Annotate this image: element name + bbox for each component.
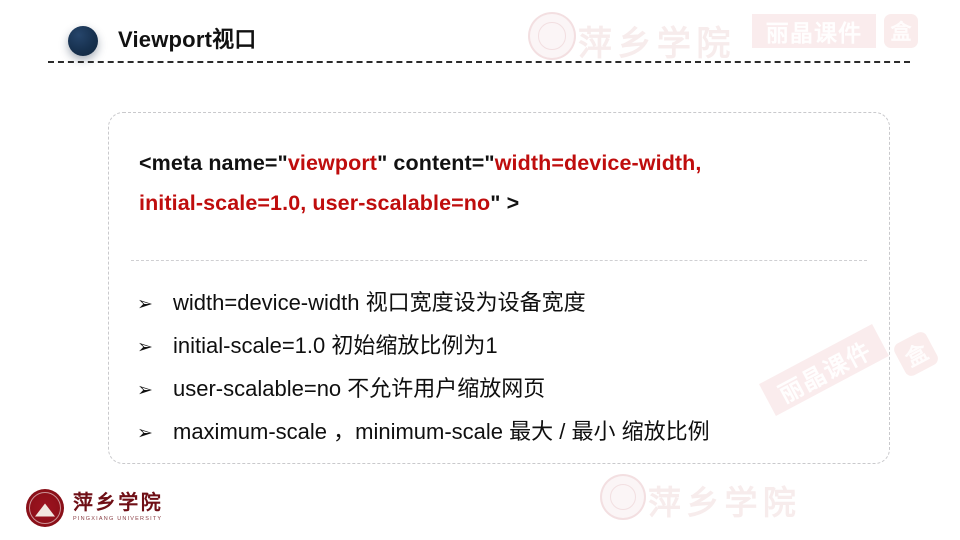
footer-logo-name: 萍乡学院 (73, 492, 163, 514)
arrow-bullet-icon: ➢ (137, 369, 173, 412)
code-token: viewport (288, 151, 377, 175)
code-token: , (695, 151, 701, 175)
list-item: ➢ width=device-width 视口宽度设为设备宽度 (137, 281, 875, 324)
arrow-bullet-icon: ➢ (137, 283, 173, 326)
list-item-label: maximum-scale ，minimum-scale 最大 / 最小 缩放比… (173, 410, 875, 453)
navy-dot-icon (68, 26, 98, 56)
watermark-university-name-bottom: 萍乡学院 (648, 476, 801, 524)
watermark-university-name-top: 萍乡学院 (578, 16, 736, 65)
header-divider (48, 61, 910, 63)
page-title: Viewport视口 (118, 25, 257, 55)
list-item: ➢ maximum-scale ，minimum-scale 最大 / 最小 缩… (137, 410, 875, 453)
watermark-badge-middle: 盒 (892, 330, 941, 379)
watermark-courseware-label-top: 丽晶课件 (752, 14, 876, 48)
list-item: ➢ initial-scale=1.0 初始缩放比例为1 (137, 324, 875, 367)
parameter-list: ➢ width=device-width 视口宽度设为设备宽度 ➢ initia… (137, 281, 875, 453)
footer-logo: 萍乡学院 PINGXIANG UNIVERSITY (26, 489, 163, 527)
list-item-label: width=device-width 视口宽度设为设备宽度 (173, 281, 875, 324)
code-token: initial-scale=1.0, user-scalable=no (139, 191, 490, 215)
pingxiang-university-crest-icon (26, 489, 64, 527)
footer-logo-text: 萍乡学院 PINGXIANG UNIVERSITY (73, 492, 163, 524)
arrow-bullet-icon: ➢ (137, 412, 173, 455)
code-line-1: <meta name="viewport" content="width=dev… (139, 143, 865, 183)
card-divider (131, 260, 867, 261)
watermark-crest-icon-top (528, 12, 576, 60)
content-card: <meta name="viewport" content="width=dev… (108, 112, 890, 464)
watermark-crest-icon-bottom (600, 474, 646, 520)
arrow-bullet-icon: ➢ (137, 326, 173, 369)
slide-canvas: 萍乡学院 丽晶课件 盒 丽晶课件 盒 萍乡学院 Viewport视口 <meta… (0, 0, 960, 540)
list-item-label: initial-scale=1.0 初始缩放比例为1 (173, 324, 875, 367)
code-token: " > (490, 191, 519, 215)
code-token: " content=" (377, 151, 495, 175)
list-item-label: user-scalable=no 不允许用户缩放网页 (173, 367, 875, 410)
code-line-2: initial-scale=1.0, user-scalable=no" > (139, 183, 865, 223)
footer-logo-subtitle: PINGXIANG UNIVERSITY (73, 515, 163, 524)
list-item: ➢ user-scalable=no 不允许用户缩放网页 (137, 367, 875, 410)
code-token: width=device-width (495, 151, 696, 175)
code-snippet: <meta name="viewport" content="width=dev… (139, 143, 865, 223)
code-token: <meta name=" (139, 151, 288, 175)
watermark-badge-top: 盒 (884, 14, 918, 48)
